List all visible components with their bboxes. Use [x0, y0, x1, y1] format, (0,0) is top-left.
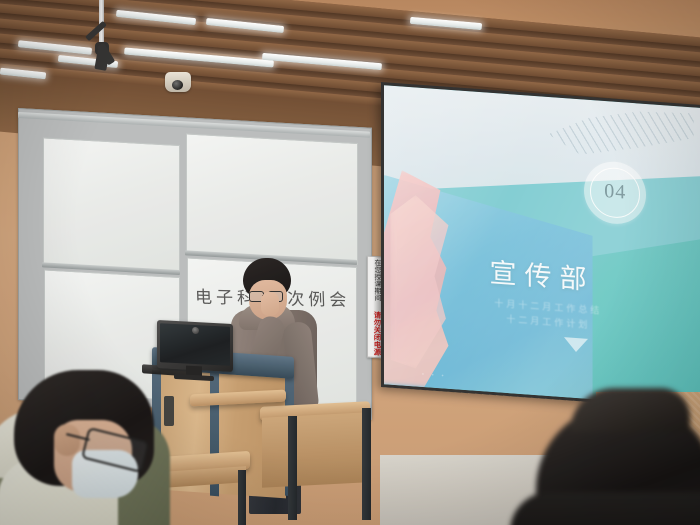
security-camera-icon	[165, 72, 191, 92]
projection-screen: 04 宣传部 十月十二月工作总结 十二月工作计划 • • •	[381, 82, 700, 410]
front-student-right	[530, 396, 700, 525]
student-desk-front	[262, 412, 368, 488]
presentation-monitor	[157, 320, 233, 372]
classroom-photo: 电子科技 次例会 在您授课期间 请勿关闭电源 04 宣传部 十月十二月工作总结 …	[0, 0, 700, 525]
whiteboard-panel-top-left	[43, 137, 180, 275]
power-notice-sign: 在您授课期间 请勿关闭电源	[367, 256, 382, 359]
student-ear	[54, 424, 80, 456]
desk-leg	[362, 408, 371, 520]
student-shoulder	[510, 492, 700, 525]
sign-text-warning: 请勿关闭电源	[368, 310, 381, 355]
front-student-left	[0, 372, 202, 525]
whiteboard-panel-top-right	[186, 133, 358, 265]
monitor-camera-icon	[192, 327, 199, 334]
slide-heading: 宣传部	[490, 251, 595, 298]
triangle-down-icon	[564, 337, 588, 353]
slide-section-number: 04	[604, 180, 626, 205]
presenter-hand	[261, 292, 279, 316]
sign-text-main: 在您授课期间	[368, 259, 381, 302]
presentation-slide: 04 宣传部 十月十二月工作总结 十二月工作计划 • • •	[384, 85, 700, 407]
desk-leg	[238, 470, 246, 525]
desk-leg	[288, 416, 297, 520]
